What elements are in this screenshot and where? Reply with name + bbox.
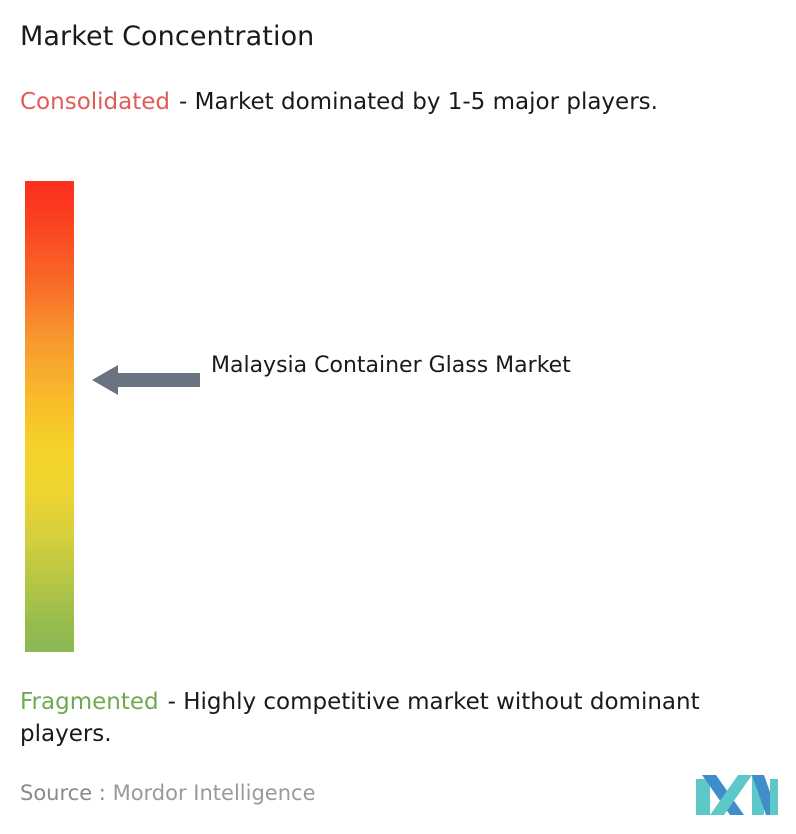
legend-consolidated: Consolidated- Market dominated by 1-5 ma… [20, 86, 790, 118]
annotation-arrow-icon [92, 363, 200, 397]
market-concentration-chart: Market Concentration Consolidated- Marke… [0, 0, 796, 834]
legend-fragmented: Fragmented- Highly competitive market wi… [20, 686, 790, 750]
source-value: Mordor Intelligence [113, 781, 316, 805]
source-label: Source : [20, 781, 106, 805]
page-title: Market Concentration [20, 20, 314, 54]
annotation-label: Malaysia Container Glass Market [211, 350, 611, 382]
legend-key-fragmented: Fragmented [20, 689, 159, 715]
mordor-intelligence-logo-icon [696, 771, 778, 819]
legend-key-consolidated: Consolidated [20, 89, 170, 115]
concentration-gradient-bar [25, 181, 74, 652]
legend-description-consolidated: - Market dominated by 1-5 major players. [179, 89, 658, 115]
source-line: Source : Mordor Intelligence [20, 779, 315, 807]
